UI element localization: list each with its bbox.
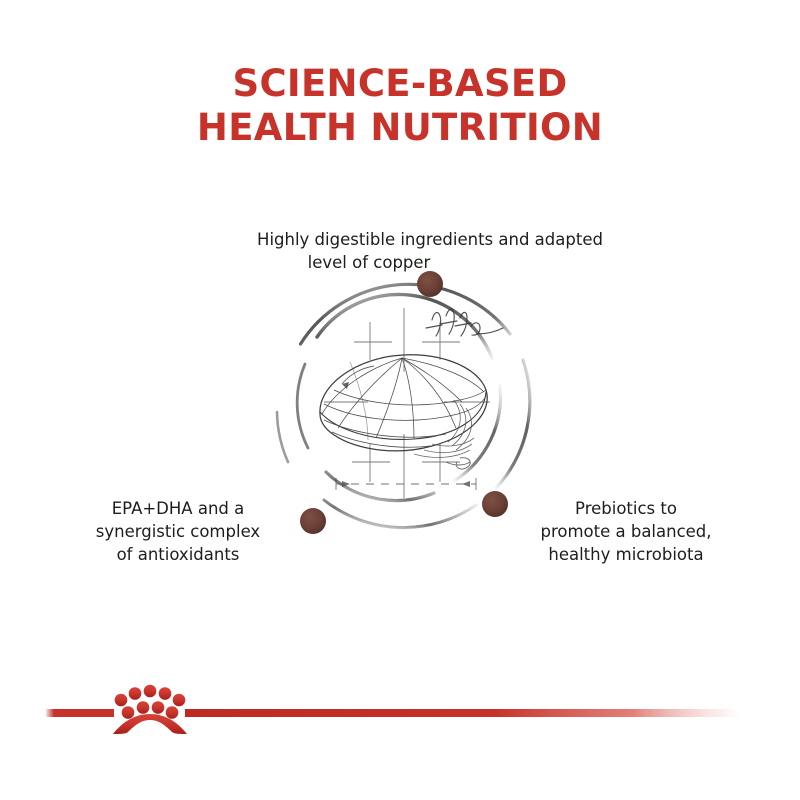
benefit-right-line-1: Prebiotics to xyxy=(528,497,724,520)
page-title-line-2: HEALTH NUTRITION xyxy=(0,106,800,150)
infographic-canvas: SCIENCE-BASED HEALTH NUTRITION Highly di… xyxy=(0,0,800,800)
kibble-technical-sketch xyxy=(320,308,503,498)
central-diagram xyxy=(264,262,544,542)
red-rule-left xyxy=(46,709,114,717)
red-rule-right xyxy=(185,709,745,717)
benefit-right-line-3: healthy microbiota xyxy=(528,543,724,566)
benefit-left-line-3: of antioxidants xyxy=(72,543,284,566)
node-top-dot xyxy=(417,271,443,297)
benefit-left-line-1: EPA+DHA and a xyxy=(72,497,284,520)
outer-broken-circle xyxy=(277,284,530,527)
benefit-top-line-1: Highly digestible ingredients and adapte… xyxy=(230,228,630,251)
benefit-callout-right: Prebiotics to promote a balanced, health… xyxy=(528,497,724,566)
node-left-dot xyxy=(300,508,326,534)
benefit-right-line-2: promote a balanced, xyxy=(528,520,724,543)
page-title: SCIENCE-BASED HEALTH NUTRITION xyxy=(0,62,800,150)
royal-canin-crown-logo xyxy=(113,685,187,734)
brand-footer xyxy=(0,672,800,752)
page-title-line-1: SCIENCE-BASED xyxy=(0,62,800,106)
benefit-callout-left: EPA+DHA and a synergistic complex of ant… xyxy=(72,497,284,566)
node-right-dot xyxy=(482,491,508,517)
benefit-left-line-2: synergistic complex xyxy=(72,520,284,543)
